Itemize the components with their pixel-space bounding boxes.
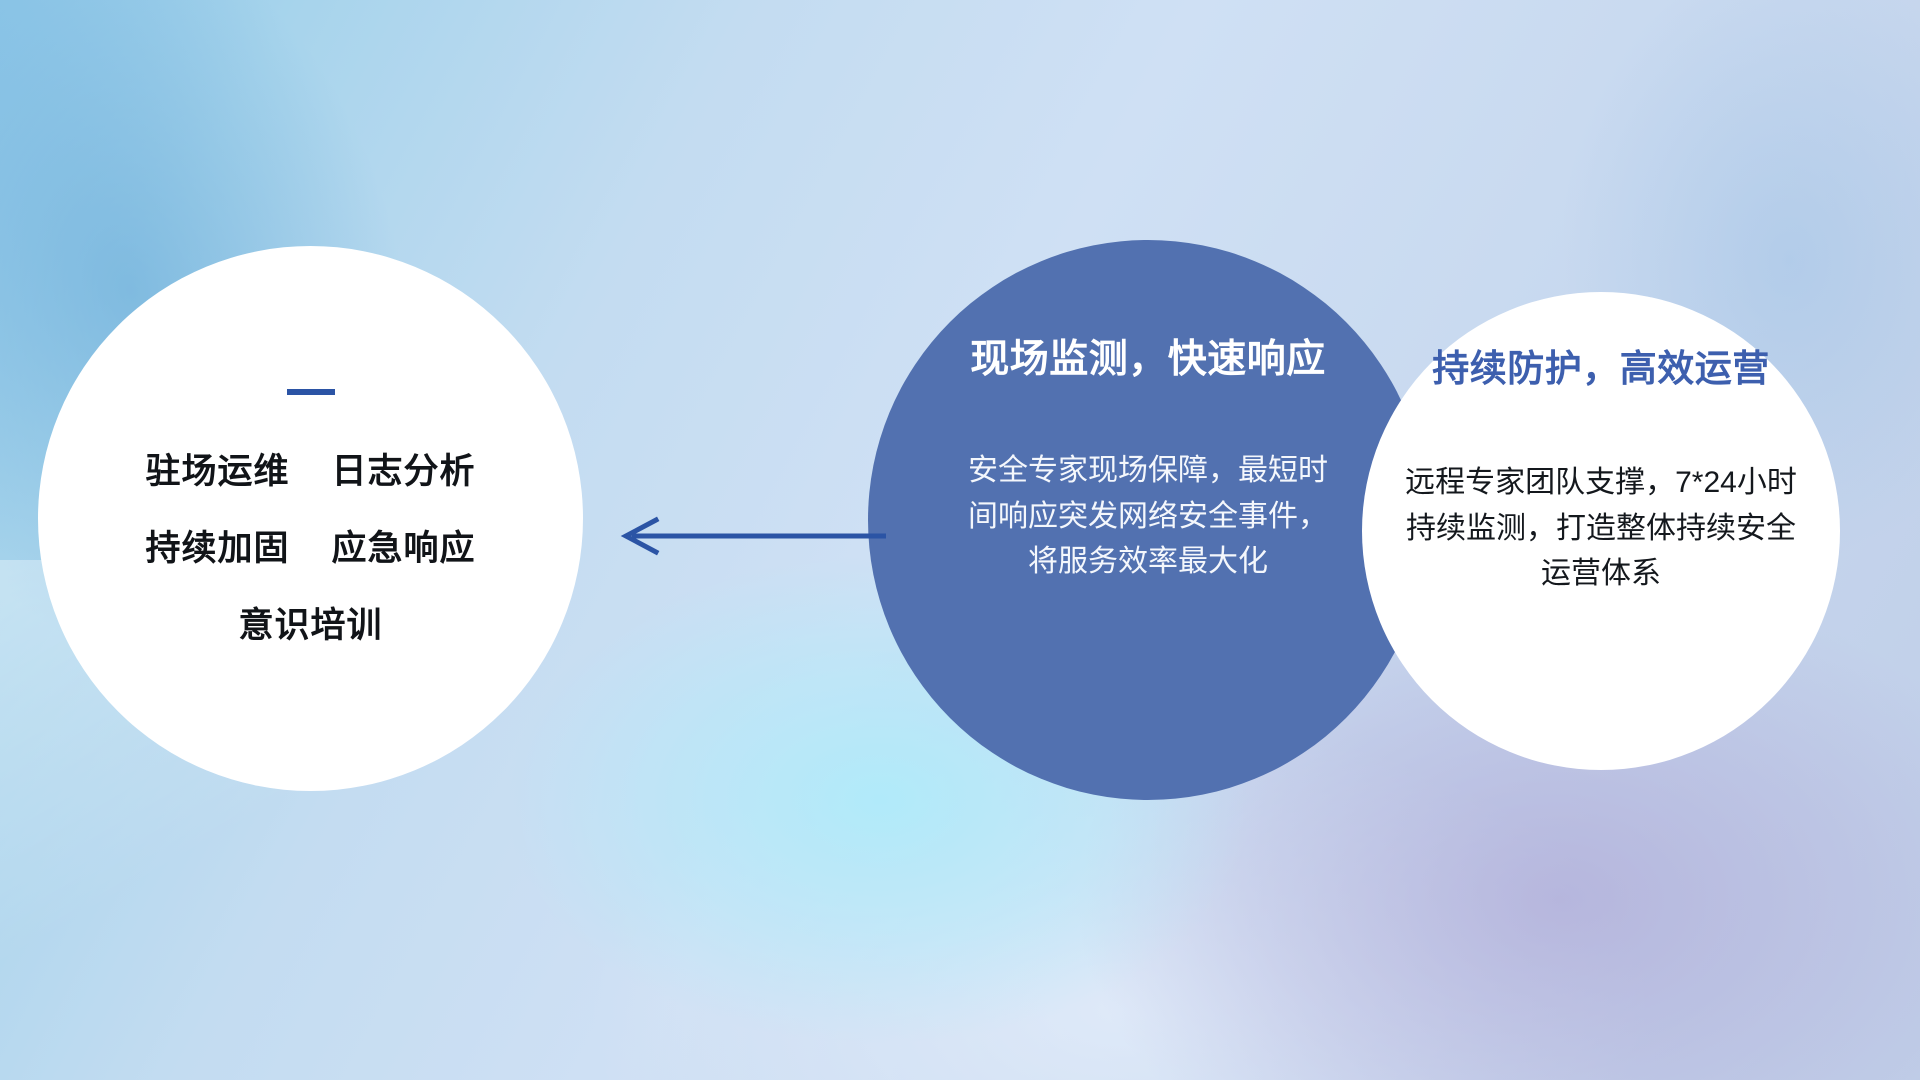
center-circle-content: 现场监测，快速响应 安全专家现场保障，最短时间响应突发网络安全事件，将服务效率最… (868, 240, 1428, 800)
left-keyword: 应急响应 (332, 520, 476, 571)
left-keyword: 意识培训 (238, 597, 382, 648)
slide-canvas: 现场监测，快速响应 安全专家现场保障，最短时间响应突发网络安全事件，将服务效率最… (0, 0, 1920, 1080)
left-white-circle: 驻场运维 日志分析 持续加固 应急响应 意识培训 (38, 246, 583, 791)
left-circle-keyword-row: 意识培训 (238, 597, 382, 648)
left-keyword: 驻场运维 (145, 443, 289, 494)
right-white-circle: 持续防护，高效运营 远程专家团队支撑，7*24小时持续监测，打造整体持续安全运营… (1362, 292, 1840, 770)
left-circle-divider-rule (287, 389, 335, 395)
left-keyword: 日志分析 (332, 443, 476, 494)
center-dark-circle: 现场监测，快速响应 安全专家现场保障，最短时间响应突发网络安全事件，将服务效率最… (868, 240, 1428, 800)
left-pointing-arrow-icon (596, 516, 886, 556)
right-circle-body: 远程专家团队支撑，7*24小时持续监测，打造整体持续安全运营体系 (1404, 460, 1798, 597)
left-circle-content: 驻场运维 日志分析 持续加固 应急响应 意识培训 (38, 246, 583, 791)
left-circle-keyword-row: 驻场运维 日志分析 (145, 443, 475, 494)
center-circle-body: 安全专家现场保障，最短时间响应突发网络安全事件，将服务效率最大化 (963, 448, 1333, 585)
left-circle-keyword-row: 持续加固 应急响应 (145, 520, 475, 571)
right-circle-title: 持续防护，高效运营 (1432, 338, 1770, 392)
center-circle-title: 现场监测，快速响应 (970, 328, 1326, 384)
right-circle-content: 持续防护，高效运营 远程专家团队支撑，7*24小时持续监测，打造整体持续安全运营… (1362, 292, 1840, 770)
left-keyword: 持续加固 (145, 520, 289, 571)
